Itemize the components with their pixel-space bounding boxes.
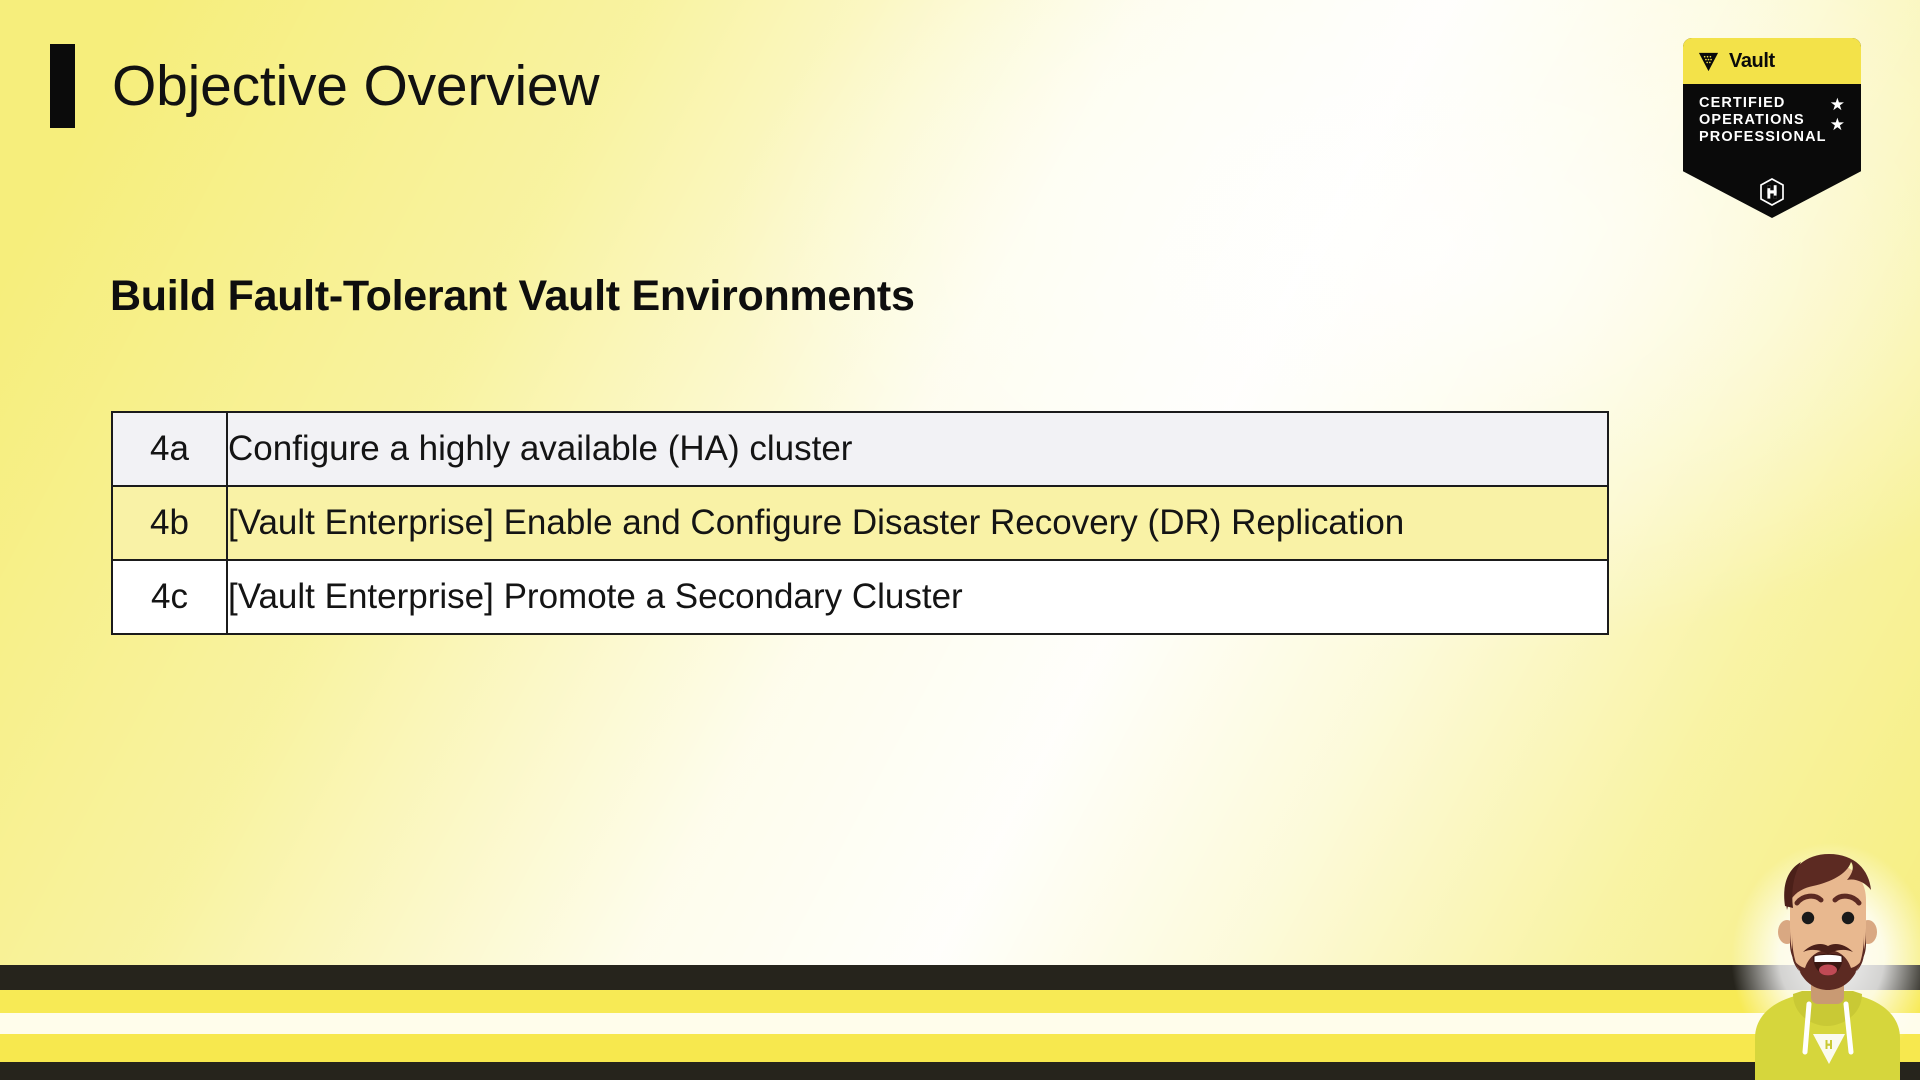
table-row: 4a Configure a highly available (HA) clu…: [112, 412, 1608, 486]
hashicorp-logo-icon: [1759, 178, 1785, 206]
objective-text: [Vault Enterprise] Enable and Configure …: [227, 486, 1608, 560]
badge-line-professional: PROFESSIONAL: [1699, 129, 1827, 146]
table-row: 4b [Vault Enterprise] Enable and Configu…: [112, 486, 1608, 560]
badge-line-certified: CERTIFIED: [1699, 95, 1827, 112]
star-icon: ★: [1830, 115, 1845, 135]
table-row: 4c [Vault Enterprise] Promote a Secondar…: [112, 560, 1608, 634]
star-icon: ★: [1830, 95, 1845, 115]
footer-band-cream: [0, 1013, 1920, 1034]
objective-id: 4a: [112, 412, 227, 486]
objective-text: [Vault Enterprise] Promote a Secondary C…: [227, 560, 1608, 634]
footer-band-yellow-bottom: [0, 1034, 1920, 1062]
badge-product-name: Vault: [1729, 50, 1775, 73]
certification-badge: Vault CERTIFIED OPERATIONS PROFESSIONAL …: [1683, 38, 1861, 218]
presenter-avatar: [1735, 848, 1920, 1080]
objectives-table: 4a Configure a highly available (HA) clu…: [111, 411, 1609, 635]
badge-certification-lines: CERTIFIED OPERATIONS PROFESSIONAL: [1699, 95, 1827, 146]
badge-star-rating: ★ ★: [1830, 95, 1845, 135]
avatar-illustration: [1735, 848, 1920, 1080]
objective-id: 4b: [112, 486, 227, 560]
page-title: Objective Overview: [112, 58, 599, 115]
footer-band-yellow-top: [0, 990, 1920, 1013]
page-title-block: Objective Overview: [50, 40, 599, 132]
slide-canvas: Objective Overview Build Fault-Tolerant …: [0, 0, 1920, 1080]
section-heading: Build Fault-Tolerant Vault Environments: [110, 272, 915, 321]
footer-band-dark-top: [0, 965, 1920, 990]
vault-logo-icon: [1697, 50, 1720, 73]
footer-band-dark-bottom: [0, 1062, 1920, 1080]
objective-text: Configure a highly available (HA) cluste…: [227, 412, 1608, 486]
title-accent-bar: [50, 44, 75, 128]
badge-line-operations: OPERATIONS: [1699, 112, 1827, 129]
badge-header: Vault: [1683, 38, 1861, 84]
objective-id: 4c: [112, 560, 227, 634]
